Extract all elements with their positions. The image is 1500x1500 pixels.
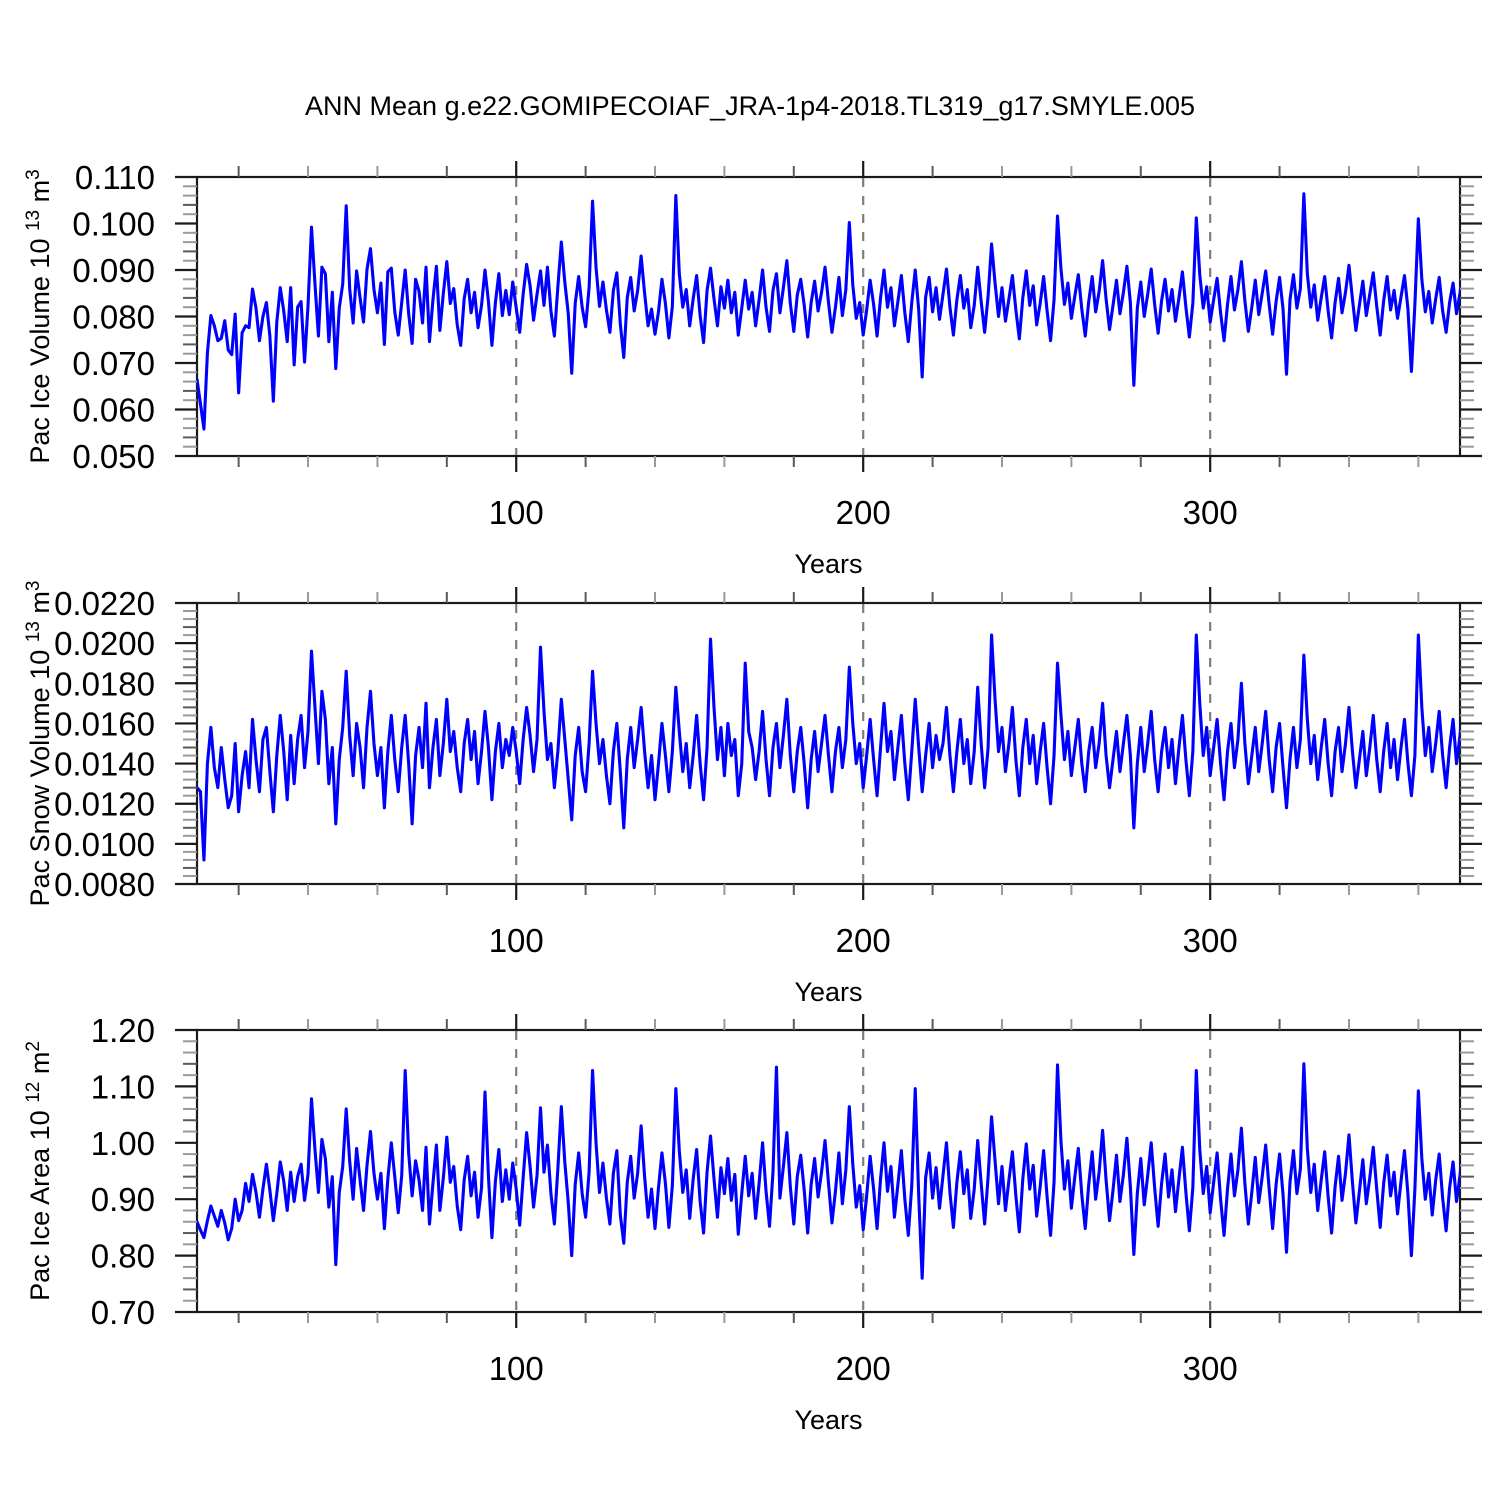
y-tick-label: 0.050 <box>72 438 155 475</box>
y-tick-label: 0.090 <box>72 252 155 289</box>
y-tick-label: 0.0100 <box>54 826 155 863</box>
y-tick-label: 0.070 <box>72 345 155 382</box>
y-axis-title-unit: m <box>25 1052 55 1082</box>
x-tick-label: 200 <box>836 922 891 959</box>
x-axis-title: Years <box>794 977 862 1007</box>
y-axis-title-unit-exponent: 2 <box>23 1041 44 1052</box>
series-line-1 <box>197 194 1495 429</box>
figure-title: ANN Mean g.e22.GOMIPECOIAF_JRA-1p4-2018.… <box>305 91 1195 121</box>
x-axis-title: Years <box>794 549 862 579</box>
x-tick-label: 200 <box>836 1350 891 1387</box>
x-tick-label: 300 <box>1183 494 1238 531</box>
panel-3: 100200300Years0.700.800.901.001.101.20Pa… <box>23 1012 1495 1435</box>
y-tick-label: 0.0220 <box>54 585 155 622</box>
x-tick-label: 300 <box>1183 1350 1238 1387</box>
figure-container: ANN Mean g.e22.GOMIPECOIAF_JRA-1p4-2018.… <box>0 0 1500 1500</box>
y-axis-title-base: Pac Ice Area 10 <box>25 1103 55 1301</box>
y-tick-label: 1.00 <box>91 1125 155 1162</box>
y-axis-title: Pac Ice Volume 10 13 m3 <box>23 169 55 463</box>
y-tick-label: 0.0160 <box>54 705 155 742</box>
series-line-2 <box>197 635 1495 860</box>
x-tick-label: 100 <box>489 1350 544 1387</box>
y-tick-label: 0.0180 <box>54 665 155 702</box>
y-tick-label: 0.90 <box>91 1181 155 1218</box>
x-tick-label: 200 <box>836 494 891 531</box>
y-axis-title-unit-exponent: 3 <box>23 581 44 592</box>
y-axis-title-exponent: 13 <box>23 621 44 642</box>
y-tick-label: 0.80 <box>91 1238 155 1275</box>
y-axis-title-exponent: 13 <box>23 210 44 231</box>
y-tick-label: 1.20 <box>91 1012 155 1049</box>
y-axis-title-base: Pac Ice Volume 10 <box>25 231 55 464</box>
x-tick-label: 100 <box>489 922 544 959</box>
x-tick-label: 100 <box>489 494 544 531</box>
y-tick-label: 0.060 <box>72 392 155 429</box>
y-tick-label: 0.0200 <box>54 625 155 662</box>
panel-1: 100200300Years0.0500.0600.0700.0800.0900… <box>23 159 1495 579</box>
chart-svg: ANN Mean g.e22.GOMIPECOIAF_JRA-1p4-2018.… <box>0 0 1500 1500</box>
y-tick-label: 1.10 <box>91 1068 155 1105</box>
x-tick-label: 300 <box>1183 922 1238 959</box>
y-axis-title-unit-exponent: 3 <box>23 169 44 180</box>
panel-2: 100200300Years0.00800.01000.01200.01400.… <box>23 581 1495 1007</box>
y-axis-title-base: Pac Snow Volume 10 <box>25 642 55 906</box>
y-axis-title: Pac Snow Volume 10 13 m3 <box>23 581 55 907</box>
x-axis-title: Years <box>794 1405 862 1435</box>
y-axis-title-exponent: 12 <box>23 1082 44 1103</box>
y-axis-title-unit: m <box>25 591 55 621</box>
y-tick-label: 0.080 <box>72 299 155 336</box>
y-tick-label: 0.0120 <box>54 786 155 823</box>
y-tick-label: 0.70 <box>91 1294 155 1331</box>
series-line-3 <box>197 1064 1495 1278</box>
y-tick-label: 0.100 <box>72 206 155 243</box>
y-axis-title: Pac Ice Area 10 12 m2 <box>23 1041 55 1301</box>
y-tick-label: 0.0140 <box>54 746 155 783</box>
y-axis-title-unit: m <box>25 180 55 210</box>
y-tick-label: 0.110 <box>75 159 155 196</box>
y-tick-label: 0.0080 <box>54 866 155 903</box>
